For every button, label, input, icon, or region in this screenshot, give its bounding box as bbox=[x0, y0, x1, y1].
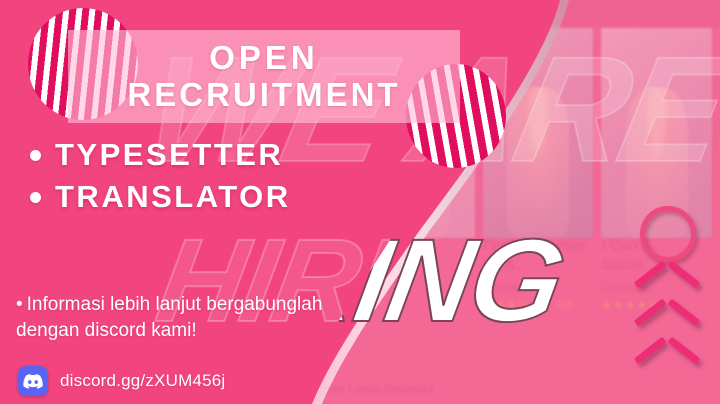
discord-icon bbox=[18, 366, 48, 396]
recruitment-poster-screenshot: Proje Manga bbox=[0, 0, 720, 404]
bullet-dot-icon bbox=[30, 150, 41, 161]
role-item-translator: TRANSLATOR bbox=[30, 176, 291, 218]
role-list: TYPESETTER TRANSLATOR bbox=[30, 134, 291, 218]
role-item-typesetter: TYPESETTER bbox=[30, 134, 291, 176]
headline-backdrop bbox=[68, 30, 460, 123]
role-label: TRANSLATOR bbox=[55, 176, 291, 218]
role-label: TYPESETTER bbox=[55, 134, 283, 176]
bullet-dot-icon bbox=[30, 192, 41, 203]
circle-ring-decoration bbox=[640, 206, 696, 262]
info-paragraph: •Informasi lebih lanjut bergabunglah den… bbox=[16, 292, 346, 344]
discord-invite-link[interactable]: discord.gg/zXUM456j bbox=[60, 371, 225, 391]
chevron-up-icon bbox=[636, 320, 698, 350]
info-bullet-icon: • bbox=[16, 294, 23, 315]
chevron-up-icon bbox=[636, 358, 698, 388]
discord-row[interactable]: discord.gg/zXUM456j bbox=[18, 366, 225, 396]
chevron-up-icon bbox=[636, 282, 698, 312]
info-text: Informasi lebih lanjut bergabunglah deng… bbox=[16, 294, 322, 341]
